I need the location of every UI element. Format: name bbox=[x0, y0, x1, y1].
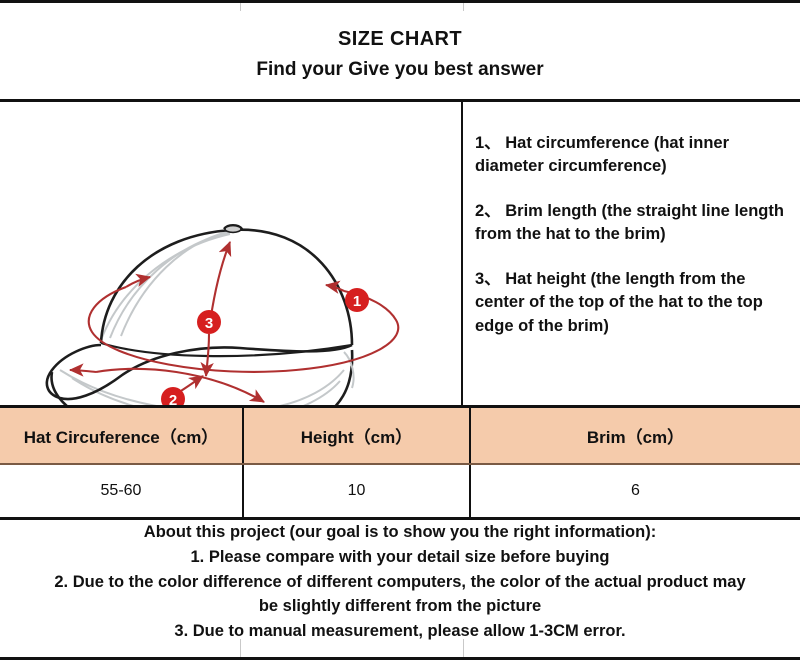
diagram-legend-band: 1 3 2 bbox=[0, 102, 800, 408]
footer-notes: About this project (our goal is to show … bbox=[0, 514, 800, 660]
table-row: 55-60 10 6 bbox=[0, 464, 800, 519]
svg-text:2: 2 bbox=[169, 392, 177, 405]
legend-item-1: 1、 Hat circumference (hat inner diameter… bbox=[475, 132, 786, 179]
page-title: SIZE CHART bbox=[338, 26, 462, 52]
badge-1: 1 bbox=[345, 288, 369, 312]
crown-lower-edge bbox=[101, 343, 352, 356]
title-block: SIZE CHART Find your Give you best answe… bbox=[0, 3, 800, 102]
size-table: Hat Circuference（cm） Height（cm） Brim（cm）… bbox=[0, 408, 800, 520]
column-header-circumference: Hat Circuference（cm） bbox=[0, 408, 243, 464]
legend-item-2: 2、 Brim length (the straight line length… bbox=[475, 200, 786, 247]
top-edge-divider-2 bbox=[463, 3, 464, 11]
cell-circumference: 55-60 bbox=[0, 464, 243, 519]
column-header-height: Height（cm） bbox=[243, 408, 470, 464]
badge-3: 3 bbox=[197, 310, 221, 334]
note-line-1: 1. Please compare with your detail size … bbox=[0, 545, 800, 570]
note-line-0: About this project (our goal is to show … bbox=[0, 520, 800, 545]
crown-outline bbox=[101, 230, 352, 345]
svg-text:1: 1 bbox=[353, 293, 361, 310]
svg-text:3: 3 bbox=[205, 315, 213, 332]
note-line-2: 2. Due to the color difference of differ… bbox=[0, 570, 800, 595]
cap-diagram-svg: 1 3 2 bbox=[0, 102, 463, 405]
cell-height: 10 bbox=[243, 464, 470, 519]
crown-button-top bbox=[225, 226, 241, 233]
bottom-edge-divider-1 bbox=[240, 639, 241, 657]
top-edge-divider-1 bbox=[240, 3, 241, 11]
legend-item-3: 3、 Hat height (the length from the cente… bbox=[475, 268, 786, 338]
note-line-3: be slightly different from the picture bbox=[0, 594, 800, 619]
cap-diagram: 1 3 2 bbox=[0, 102, 463, 405]
cell-brim: 6 bbox=[470, 464, 800, 519]
note-line-4: 3. Due to manual measurement, please all… bbox=[0, 619, 800, 644]
bottom-edge-divider-2 bbox=[463, 639, 464, 657]
size-chart-sheet: SIZE CHART Find your Give you best answe… bbox=[0, 0, 800, 660]
circumference-arrow-head-right bbox=[326, 285, 344, 291]
size-table-header-row: Hat Circuference（cm） Height（cm） Brim（cm） bbox=[0, 408, 800, 464]
column-header-brim: Brim（cm） bbox=[470, 408, 800, 464]
page-subtitle: Find your Give you best answer bbox=[256, 57, 543, 83]
measurement-legend: 1、 Hat circumference (hat inner diameter… bbox=[463, 102, 800, 405]
brim-sweep-arrow-left bbox=[70, 370, 96, 372]
